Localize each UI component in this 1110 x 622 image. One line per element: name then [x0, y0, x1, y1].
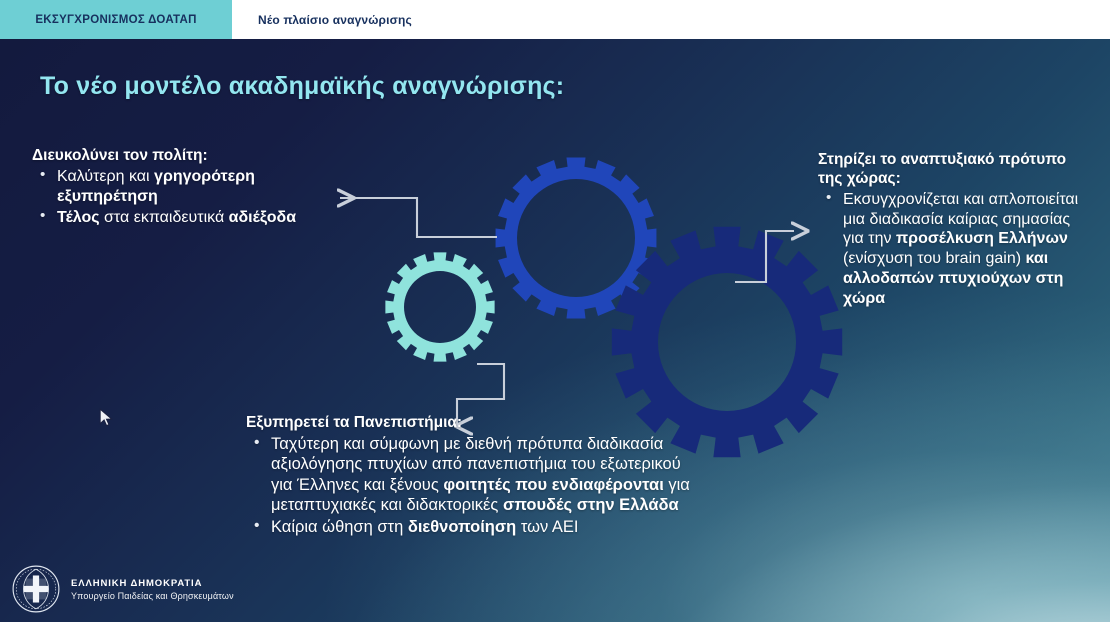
bullet-item: Καλύτερη και γρηγορότερη εξυπηρέτηση	[32, 167, 332, 207]
universities-bullet-list: Ταχύτερη και σύμφωνη με διεθνή πρότυπα δ…	[246, 434, 696, 537]
bullet-item: Ταχύτερη και σύμφωνη με διεθνή πρότυπα δ…	[246, 434, 696, 516]
bold-run: διεθνοποίηση	[408, 518, 516, 536]
bold-run: αδιέξοδα	[229, 209, 296, 226]
text-block-citizen: Διευκολύνει τον πολίτη: Καλύτερη και γρη…	[32, 147, 332, 227]
bold-run: προσέλκυση Ελλήνων	[896, 230, 1068, 247]
text-run: Καλύτερη και	[57, 168, 154, 185]
bold-run: Τέλος	[57, 209, 100, 226]
bullet-item: Καίρια ώθηση στη διεθνοποίηση των ΑΕΙ	[246, 517, 696, 537]
citizen-heading: Διευκολύνει τον πολίτη:	[32, 147, 332, 166]
citizen-bullet-list: Καλύτερη και γρηγορότερη εξυπηρέτησηΤέλο…	[32, 167, 332, 227]
universities-heading: Εξυπηρετεί τα Πανεπιστήμια:	[246, 414, 696, 433]
bullet-item: Εκσυγχρονίζεται και απλοποιείται μια δια…	[818, 190, 1090, 309]
text-run: στα εκπαιδευτικά	[100, 209, 229, 226]
logo-line-1: ΕΛΛΗΝΙΚΗ ΔΗΜΟΚΡΑΤΙΑ	[71, 578, 234, 589]
slide-canvas[interactable]: Το νέο μοντέλο ακαδημαϊκής αναγνώρισης: …	[0, 39, 1110, 622]
logo-line-2: Υπουργείο Παιδείας και Θρησκευμάτων	[71, 591, 234, 601]
text-run: των ΑΕΙ	[516, 518, 578, 536]
bold-run: φοιτητές που ενδιαφέρονται	[443, 476, 668, 494]
tab-modernization[interactable]: ΕΚΣΥΓΧΡΟΝΙΣΜΟΣ ΔΟΑΤΑΠ	[0, 0, 232, 39]
tab-bar: ΕΚΣΥΓΧΡΟΝΙΣΜΟΣ ΔΟΑΤΑΠ Νέο πλαίσιο αναγνώ…	[0, 0, 1110, 39]
bold-run: σπουδές στην Ελλάδα	[503, 496, 679, 514]
ministry-logo: ΕΛΛΗΝΙΚΗ ΔΗΜΟΚΡΑΤΙΑ Υπουργείο Παιδείας κ…	[10, 563, 234, 615]
growth-heading: Στηρίζει το αναπτυξιακό πρότυπο της χώρα…	[818, 151, 1090, 189]
text-run: (ενίσχυση του brain gain)	[843, 250, 1026, 267]
tab-new-framework[interactable]: Νέο πλαίσιο αναγνώρισης	[232, 0, 438, 39]
tab-new-framework-label: Νέο πλαίσιο αναγνώρισης	[258, 13, 412, 27]
presentation-viewer: ΕΚΣΥΓΧΡΟΝΙΣΜΟΣ ΔΟΑΤΑΠ Νέο πλαίσιο αναγνώ…	[0, 0, 1110, 622]
text-block-universities: Εξυπηρετεί τα Πανεπιστήμια: Ταχύτερη και…	[246, 414, 696, 537]
text-block-growth: Στηρίζει το αναπτυξιακό πρότυπο της χώρα…	[818, 151, 1090, 309]
hellenic-republic-crest-icon	[10, 563, 62, 615]
tab-modernization-label: ΕΚΣΥΓΧΡΟΝΙΣΜΟΣ ΔΟΑΤΑΠ	[35, 14, 196, 26]
slide-title: Το νέο μοντέλο ακαδημαϊκής αναγνώρισης:	[40, 72, 564, 101]
text-run: Καίρια ώθηση στη	[271, 518, 408, 536]
arrow-to-growth	[735, 231, 794, 282]
arrow-to-citizen	[340, 198, 497, 237]
growth-bullet-list: Εκσυγχρονίζεται και απλοποιείται μια δια…	[818, 190, 1090, 309]
bullet-item: Τέλος στα εκπαιδευτικά αδιέξοδα	[32, 208, 332, 228]
